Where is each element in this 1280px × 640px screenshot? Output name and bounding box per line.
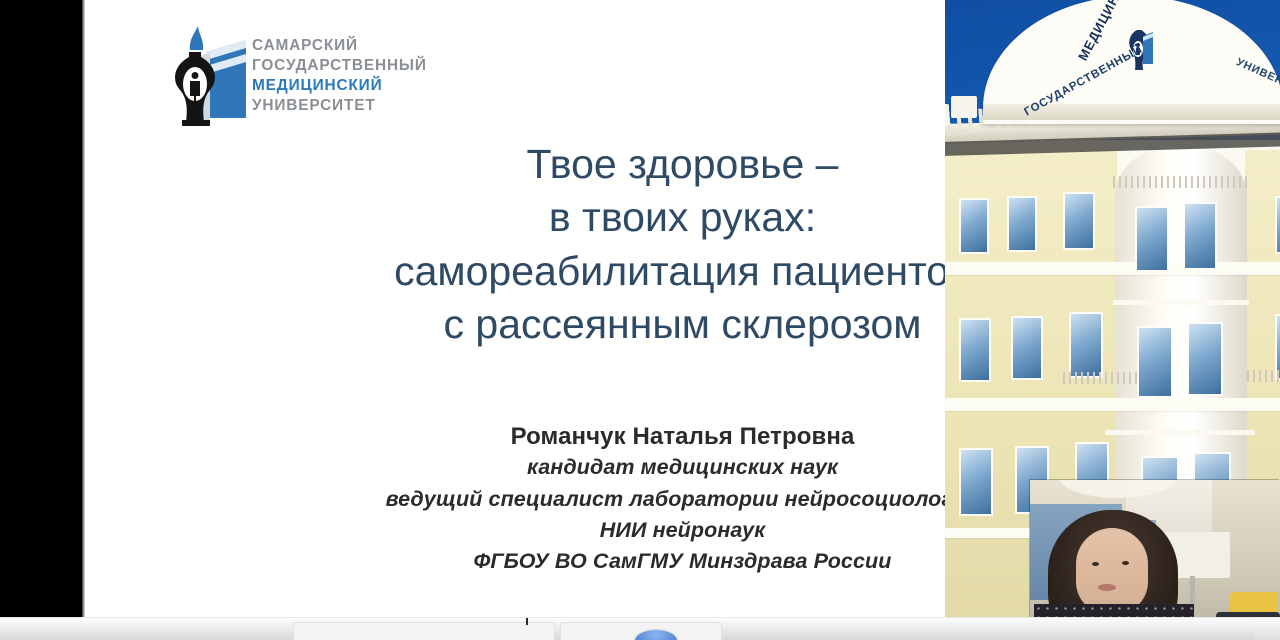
vase-with-flame-and-book-icon — [158, 22, 253, 130]
window — [1183, 202, 1217, 270]
balcony-rail — [1113, 176, 1247, 188]
logo-line-3: МЕДИЦИНСКИЙ — [252, 76, 467, 96]
balcony-rail — [1247, 370, 1280, 382]
webcam-clothing-pattern — [1034, 604, 1194, 617]
presentation-slide: САМАРСКИЙ ГОСУДАРСТВЕННЫЙ МЕДИЦИНСКИЙ УН… — [85, 0, 1280, 617]
window — [959, 198, 989, 254]
window — [1187, 322, 1223, 396]
playhead-cursor — [526, 618, 528, 625]
webcam-person-eye — [1092, 562, 1099, 566]
window — [1007, 196, 1037, 252]
window — [1063, 192, 1095, 250]
webcam-person-face — [1076, 528, 1148, 614]
window — [1069, 312, 1103, 378]
playbar-right-edge — [1254, 618, 1280, 640]
playbar-segment-left[interactable] — [293, 622, 555, 640]
player-toolbar[interactable] — [0, 617, 1280, 640]
presenter-webcam-overlay[interactable] — [1030, 480, 1280, 617]
logo-line-2: ГОСУДАРСТВЕННЫЙ — [252, 56, 467, 76]
window — [1137, 326, 1173, 398]
logo-line-1: САМАРСКИЙ — [252, 36, 467, 56]
balcony-rail — [1063, 372, 1139, 384]
webcam-person-eye — [1122, 561, 1129, 565]
window — [959, 448, 993, 516]
roof-merlon — [951, 96, 977, 118]
university-logo: САМАРСКИЙ ГОСУДАРСТВЕННЫЙ МЕДИЦИНСКИЙ УН… — [158, 22, 468, 134]
roof-merlon — [945, 104, 949, 126]
logo-line-4: УНИВЕРСИТЕТ — [252, 96, 467, 116]
facade-band-1 — [945, 262, 1280, 275]
webcam-person-mouth — [1098, 584, 1116, 591]
bay-ledge — [1105, 430, 1255, 435]
letterbox-left — [0, 0, 82, 640]
window — [1135, 206, 1169, 272]
window — [1011, 316, 1043, 380]
webcam-person-clothing — [1034, 604, 1194, 617]
window — [959, 318, 991, 382]
facade-band-2 — [945, 398, 1280, 411]
logo-wordmark: САМАРСКИЙ ГОСУДАРСТВЕННЫЙ МЕДИЦИНСКИЙ УН… — [252, 36, 467, 116]
bay-ledge — [1113, 300, 1249, 305]
video-player-stage: САМАРСКИЙ ГОСУДАРСТВЕННЫЙ МЕДИЦИНСКИЙ УН… — [0, 0, 1280, 640]
window — [1275, 196, 1280, 254]
